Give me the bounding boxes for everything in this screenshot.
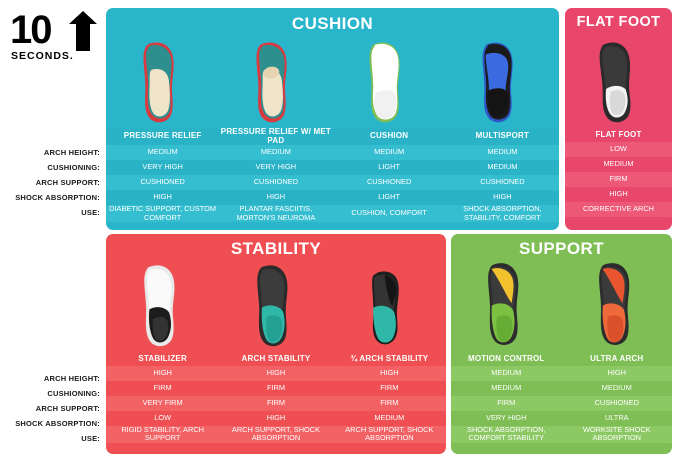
cell-arch-height-1: MEDIUM [219, 145, 332, 160]
panel-flat-foot: FLAT FOOT FLAT FOOT LOW [565, 8, 672, 230]
col-header-motion-control: MOTION CONTROL [451, 352, 562, 366]
table-row: LOW [565, 142, 672, 157]
table-header-row: PRESSURE RELIEF PRESSURE RELIEF W/ MET P… [106, 128, 559, 145]
arrow-up-icon [68, 11, 98, 51]
cell-st-cushioning-1: FIRM [219, 381, 332, 396]
cell-use-0: DIABETIC SUPPORT, CUSTOM COMFORT [106, 205, 219, 222]
table-row: MEDIUM [565, 157, 672, 172]
cell-arch-height-0: MEDIUM [106, 145, 219, 160]
cell-sp-use-1: WORKSITE SHOCK ABSORPTION [562, 426, 673, 443]
cell-st-use-0: RIGID STABILITY, ARCH SUPPORT [106, 426, 219, 443]
table-row: RIGID STABILITY, ARCH SUPPORT ARCH SUPPO… [106, 426, 446, 443]
panel-title-flat-foot: FLAT FOOT [565, 8, 672, 30]
table-row: FIRM CUSHIONED [451, 396, 672, 411]
cell-sp-arch-height-1: HIGH [562, 366, 673, 381]
cell-st-arch-height-2: HIGH [333, 366, 446, 381]
cell-sp-cushioning-0: MEDIUM [451, 381, 562, 396]
table-header-row: MOTION CONTROL ULTRA ARCH [451, 352, 672, 366]
cell-st-cushioning-2: FIRM [333, 381, 446, 396]
panel-cushion: CUSHION [106, 8, 559, 230]
cell-sp-arch-support-0: FIRM [451, 396, 562, 411]
cell-sp-arch-height-0: MEDIUM [451, 366, 562, 381]
cell-use-2: CUSHION, COMFORT [333, 205, 446, 222]
insole-image-cushion [360, 38, 418, 126]
col-header-multisport: MULTISPORT [446, 128, 559, 145]
table-row: LOW HIGH MEDIUM [106, 411, 446, 426]
cell-use-1: PLANTAR FASCIITIS, MORTON'S NEUROMA [219, 205, 332, 222]
table-row: CORRECTIVE ARCH [565, 202, 672, 217]
cell-sp-shock-1: ULTRA [562, 411, 673, 426]
row-labels-upper: ARCH HEIGHT: CUSHIONING: ARCH SUPPORT: S… [0, 145, 100, 220]
cell-st-shock-1: HIGH [219, 411, 332, 426]
flat-foot-insole-images [565, 36, 672, 126]
support-data-table: MOTION CONTROL ULTRA ARCH MEDIUM HIGH ME… [451, 352, 672, 443]
cell-cushioning-0: VERY HIGH [106, 160, 219, 175]
row-label-arch-height-2: ARCH HEIGHT: [0, 371, 100, 386]
cell-shock-absorption-0: HIGH [106, 190, 219, 205]
col-header-ultra-arch: ULTRA ARCH [562, 352, 673, 366]
insole-image-stabilizer [133, 261, 193, 351]
row-label-arch-height: ARCH HEIGHT: [0, 145, 100, 160]
row-label-use-2: USE: [0, 431, 100, 446]
cell-arch-height-3: MEDIUM [446, 145, 559, 160]
row-labels-lower: ARCH HEIGHT: CUSHIONING: ARCH SUPPORT: S… [0, 371, 100, 446]
cell-shock-absorption-2: LIGHT [333, 190, 446, 205]
cell-st-cushioning-0: FIRM [106, 381, 219, 396]
panel-support: SUPPORT [451, 234, 672, 454]
cell-cushioning-3: MEDIUM [446, 160, 559, 175]
cell-ff-arch-support: FIRM [565, 172, 672, 187]
cell-st-shock-0: LOW [106, 411, 219, 426]
stability-data-table: STABILIZER ARCH STABILITY ¾ ARCH STABILI… [106, 352, 446, 443]
cell-ff-shock-absorption: HIGH [565, 187, 672, 202]
cell-arch-support-1: CUSHIONED [219, 175, 332, 190]
insole-image-three-quarter-arch-stability [359, 261, 419, 351]
cell-shock-absorption-1: HIGH [219, 190, 332, 205]
col-header-flat-foot: FLAT FOOT [565, 128, 672, 142]
cell-arch-support-2: CUSHIONED [333, 175, 446, 190]
row-label-arch-support-2: ARCH SUPPORT: [0, 401, 100, 416]
col-header-pressure-relief: PRESSURE RELIEF [106, 128, 219, 145]
row-label-arch-support: ARCH SUPPORT: [0, 175, 100, 190]
table-header-row: STABILIZER ARCH STABILITY ¾ ARCH STABILI… [106, 352, 446, 366]
insole-image-ultra-arch [586, 259, 648, 351]
table-row: VERY HIGH VERY HIGH LIGHT MEDIUM [106, 160, 559, 175]
cell-st-shock-2: MEDIUM [333, 411, 446, 426]
table-row: MEDIUM MEDIUM MEDIUM MEDIUM [106, 145, 559, 160]
cell-shock-absorption-3: HIGH [446, 190, 559, 205]
insole-image-multisport [473, 38, 531, 126]
panel-title-stability: STABILITY [106, 234, 446, 259]
row-label-cushioning-2: CUSHIONING: [0, 386, 100, 401]
cell-st-use-2: ARCH SUPPORT, SHOCK ABSORPTION [333, 426, 446, 443]
insole-image-pressure-relief [134, 38, 192, 126]
table-row: VERY FIRM FIRM FIRM [106, 396, 446, 411]
brand-logo: 10 SECONDS. [8, 10, 104, 88]
flat-foot-data-table: FLAT FOOT LOW MEDIUM FIRM HIGH CORRECTIV… [565, 128, 672, 217]
table-row: HIGH HIGH HIGH [106, 366, 446, 381]
support-insole-images [451, 259, 672, 351]
table-row: CUSHIONED CUSHIONED CUSHIONED CUSHIONED [106, 175, 559, 190]
panel-stability: STABILITY [106, 234, 446, 454]
row-label-shock-absorption: SHOCK ABSORPTION: [0, 190, 100, 205]
cell-cushioning-1: VERY HIGH [219, 160, 332, 175]
table-row: MEDIUM HIGH [451, 366, 672, 381]
insole-image-flat-foot [589, 38, 649, 126]
row-label-use: USE: [0, 205, 100, 220]
cell-st-arch-height-1: HIGH [219, 366, 332, 381]
cell-cushioning-2: LIGHT [333, 160, 446, 175]
cell-use-3: SHOCK ABSORPTION, STABILITY, COMFORT [446, 205, 559, 222]
insole-comparison-chart: 10 SECONDS. ARCH HEIGHT: CUSHIONING: ARC… [0, 0, 679, 462]
cell-st-use-1: ARCH SUPPORT, SHOCK ABSORPTION [219, 426, 332, 443]
panel-title-cushion: CUSHION [106, 8, 559, 34]
col-header-arch-stability: ARCH STABILITY [219, 352, 332, 366]
insole-image-motion-control [475, 259, 537, 351]
cell-st-arch-height-0: HIGH [106, 366, 219, 381]
panel-title-support: SUPPORT [451, 234, 672, 259]
cell-sp-shock-0: VERY HIGH [451, 411, 562, 426]
cell-arch-height-2: MEDIUM [333, 145, 446, 160]
cell-st-arch-support-0: VERY FIRM [106, 396, 219, 411]
row-label-shock-absorption-2: SHOCK ABSORPTION: [0, 416, 100, 431]
cell-st-arch-support-1: FIRM [219, 396, 332, 411]
cell-sp-arch-support-1: CUSHIONED [562, 396, 673, 411]
stability-insole-images [106, 259, 446, 351]
table-row: FIRM FIRM FIRM [106, 381, 446, 396]
col-header-stabilizer: STABILIZER [106, 352, 219, 366]
table-row: FIRM [565, 172, 672, 187]
cell-ff-use: CORRECTIVE ARCH [565, 202, 672, 217]
insole-image-pressure-relief-met-pad [247, 38, 305, 126]
col-header-three-quarter-arch-stability: ¾ ARCH STABILITY [333, 352, 446, 366]
cell-ff-cushioning: MEDIUM [565, 157, 672, 172]
cell-arch-support-0: CUSHIONED [106, 175, 219, 190]
cell-ff-arch-height: LOW [565, 142, 672, 157]
cell-st-arch-support-2: FIRM [333, 396, 446, 411]
table-row: HIGH [565, 187, 672, 202]
col-header-cushion: CUSHION [333, 128, 446, 145]
table-header-row: FLAT FOOT [565, 128, 672, 142]
cell-sp-cushioning-1: MEDIUM [562, 381, 673, 396]
table-row: HIGH HIGH LIGHT HIGH [106, 190, 559, 205]
col-header-pressure-relief-met-pad: PRESSURE RELIEF W/ MET PAD [219, 128, 332, 145]
insole-image-arch-stability [246, 261, 306, 351]
cell-sp-use-0: SHOCK ABSORPTION, COMFORT STABILITY [451, 426, 562, 443]
table-row: DIABETIC SUPPORT, CUSTOM COMFORT PLANTAR… [106, 205, 559, 222]
table-row: MEDIUM MEDIUM [451, 381, 672, 396]
cushion-insole-images [106, 36, 559, 126]
row-label-cushioning: CUSHIONING: [0, 160, 100, 175]
cell-arch-support-3: CUSHIONED [446, 175, 559, 190]
table-row: SHOCK ABSORPTION, COMFORT STABILITY WORK… [451, 426, 672, 443]
brand-name-secondary: SECONDS. [8, 50, 104, 62]
cushion-data-table: PRESSURE RELIEF PRESSURE RELIEF W/ MET P… [106, 128, 559, 222]
table-row: VERY HIGH ULTRA [451, 411, 672, 426]
